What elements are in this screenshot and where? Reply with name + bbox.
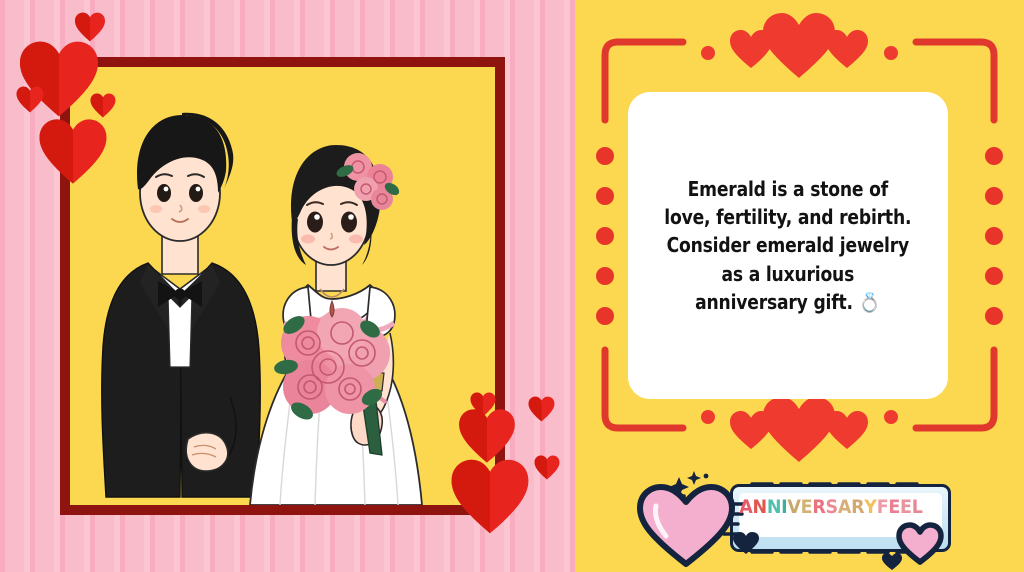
quote-textbox: Emerald is a stone of love, fertility, a… [628, 92, 948, 399]
photo-frame [60, 57, 505, 515]
logo-letter: A [739, 496, 752, 518]
quote-line-2: love, fertility, and rebirth. [664, 205, 911, 229]
logo-heart-icon [640, 487, 732, 564]
heart-small-far-right [528, 396, 555, 422]
logo-letter: E [888, 496, 900, 518]
logo-letter: Y [864, 496, 876, 518]
logo-letter: N [767, 496, 781, 518]
heart-small-left [16, 86, 44, 113]
wedding-couple-illustration [70, 67, 495, 505]
logo-decorations [620, 470, 960, 570]
logo-letter: S [826, 496, 838, 518]
heart-mid-right [458, 408, 516, 464]
anniversaryfeel-logo[interactable]: ANNIVERSARYFEEL [620, 470, 960, 570]
logo-letter: E [801, 496, 813, 518]
quote-line-1: Emerald is a stone of [688, 177, 888, 201]
dot-bottom-left [701, 410, 715, 424]
quote-line-4: as a luxurious [722, 262, 855, 286]
heart-small-upper [74, 12, 106, 42]
photo-inner-card [70, 67, 495, 505]
ring-icon: 💍 [859, 292, 881, 314]
logo-letter: R [812, 496, 825, 518]
quote-text: Emerald is a stone of love, fertility, a… [657, 175, 919, 315]
heart-large-bottom-right [450, 458, 530, 535]
logo-letter: L [912, 496, 923, 518]
poster-canvas: Emerald is a stone of love, fertility, a… [0, 0, 1024, 572]
dot-bottom-right [884, 410, 898, 424]
quote-line-5: anniversary gift. [695, 290, 853, 314]
heart-small-far-right-low [534, 455, 560, 480]
dot-top-right [884, 46, 898, 60]
logo-letter: A [838, 496, 851, 518]
logo-wordmark: ANNIVERSARYFEEL [732, 496, 930, 518]
logo-letter: R [851, 496, 864, 518]
quote-line-3: Consider emerald jewelry [667, 233, 909, 257]
heart-large-lower-left [38, 118, 108, 185]
heart-tiny-inside-card [90, 93, 116, 118]
logo-letter: E [900, 496, 912, 518]
logo-letter: N [752, 496, 766, 518]
logo-letter: V [787, 496, 800, 518]
dot-top-left [701, 46, 715, 60]
logo-small-heart-right [899, 525, 941, 562]
logo-tiny-heart [882, 553, 902, 570]
left-photo-panel [0, 0, 575, 572]
logo-letter: F [877, 496, 889, 518]
